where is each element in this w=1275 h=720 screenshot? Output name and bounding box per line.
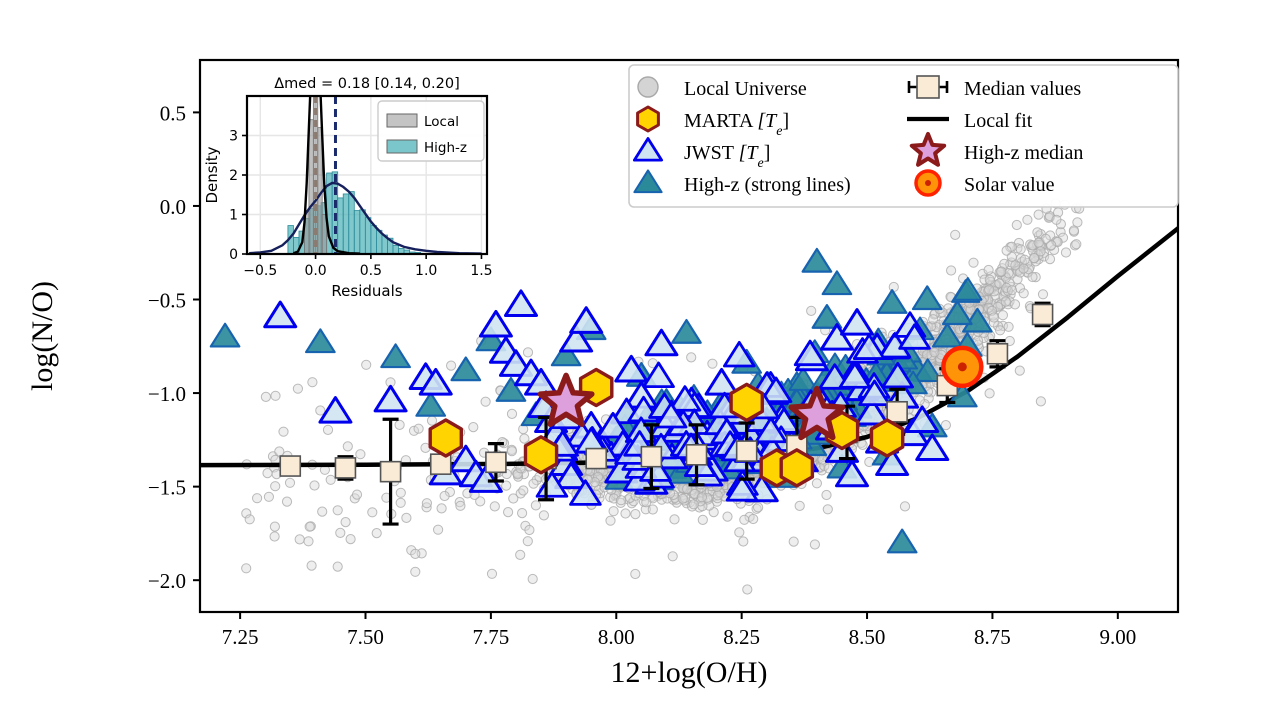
- inset-y-tick: 3: [229, 129, 238, 145]
- inset-legend-label: High-z: [424, 140, 467, 156]
- x-tick-label: 7.25: [222, 625, 259, 649]
- x-tick-label: 8.75: [974, 625, 1011, 649]
- local-universe-icon: [638, 77, 658, 97]
- x-tick-label: 7.50: [347, 625, 384, 649]
- legend-label: Local fit: [964, 110, 1033, 132]
- y-tick-label: −1.0: [148, 382, 186, 406]
- x-axis-label: 12+log(O/H): [611, 656, 768, 689]
- x-tick-label: 7.75: [473, 625, 510, 649]
- x-tick-label: 8.00: [598, 625, 635, 649]
- legend-label: Local Universe: [684, 78, 807, 100]
- inset-y-tick: 1: [229, 208, 238, 224]
- solar-value-marker: [943, 348, 981, 386]
- legend-label: High-z (strong lines): [684, 174, 851, 196]
- y-tick-label: 0.5: [160, 101, 186, 125]
- inset-x-axis-label: Residuals: [331, 282, 402, 300]
- figure-root: 7.257.507.758.008.258.508.759.000.50.0−0…: [0, 0, 1275, 720]
- inset-y-tick: 2: [229, 168, 238, 184]
- legend-label: Median values: [964, 78, 1081, 100]
- inset-x-tick: −0.5: [243, 263, 277, 279]
- inset-title: Δmed = 0.18 [0.14, 0.20]: [274, 76, 460, 92]
- x-tick-label: 8.25: [723, 625, 760, 649]
- legend-label: High-z median: [964, 142, 1083, 164]
- scatter-chart: 7.257.507.758.008.258.508.759.000.50.0−0…: [0, 0, 1275, 720]
- legend-item-square-cream-errbar[interactable]: Median values: [909, 76, 1081, 100]
- inset-x-tick: 1.0: [415, 263, 437, 279]
- median-values-icon: [917, 76, 939, 98]
- inset-y-axis-label: Density: [203, 146, 221, 203]
- inset-x-tick: 0.5: [360, 263, 382, 279]
- y-tick-label: −2.0: [148, 569, 186, 593]
- y-tick-label: −0.5: [148, 289, 186, 313]
- x-tick-label: 8.50: [849, 625, 886, 649]
- inset-y-tick: 0: [229, 247, 238, 263]
- main-legend[interactable]: Local UniverseMARTA [Te]JWST [Te]High-z …: [629, 65, 1178, 207]
- y-tick-label: 0.0: [160, 195, 186, 219]
- inset-legend-swatch-local: [387, 114, 417, 127]
- y-tick-label: −1.5: [148, 476, 186, 500]
- inset-legend-swatch-high-z: [387, 140, 417, 153]
- legend-label: Solar value: [964, 174, 1055, 196]
- inset-x-tick: 0.0: [304, 263, 326, 279]
- legend-item-circle-orange[interactable]: Solar value: [916, 171, 1055, 196]
- x-tick-label: 9.00: [1099, 625, 1136, 649]
- inset-x-tick: 1.5: [470, 263, 492, 279]
- inset-legend-label: Local: [424, 114, 459, 130]
- y-axis-label: log(N/O): [26, 281, 59, 391]
